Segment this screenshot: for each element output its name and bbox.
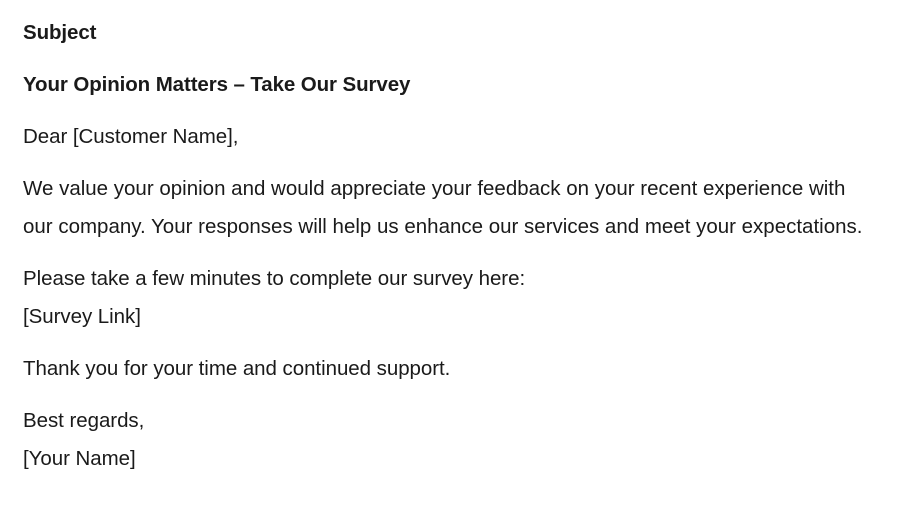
spacer-cta <box>23 336 878 350</box>
subject-label: Subject <box>23 14 878 52</box>
spacer-subject <box>23 52 878 66</box>
subject-line-text: Your Opinion Matters – Take Our Survey <box>23 66 878 104</box>
signoff-name-placeholder: [Your Name] <box>23 440 878 478</box>
spacer-thanks <box>23 388 878 402</box>
body-paragraph-text: We value your opinion and would apprecia… <box>23 170 868 246</box>
closing-thanks-text: Thank you for your time and continued su… <box>23 350 878 388</box>
email-draft-document: Subject Your Opinion Matters – Take Our … <box>0 0 900 531</box>
spacer-heading-body <box>23 104 878 118</box>
signoff-valediction: Best regards, <box>23 402 878 440</box>
spacer-salutation <box>23 156 878 170</box>
salutation-text: Dear [Customer Name], <box>23 118 878 156</box>
call-to-action-text: Please take a few minutes to complete ou… <box>23 260 878 298</box>
spacer-body <box>23 246 878 260</box>
survey-link-placeholder[interactable]: [Survey Link] <box>23 298 878 336</box>
